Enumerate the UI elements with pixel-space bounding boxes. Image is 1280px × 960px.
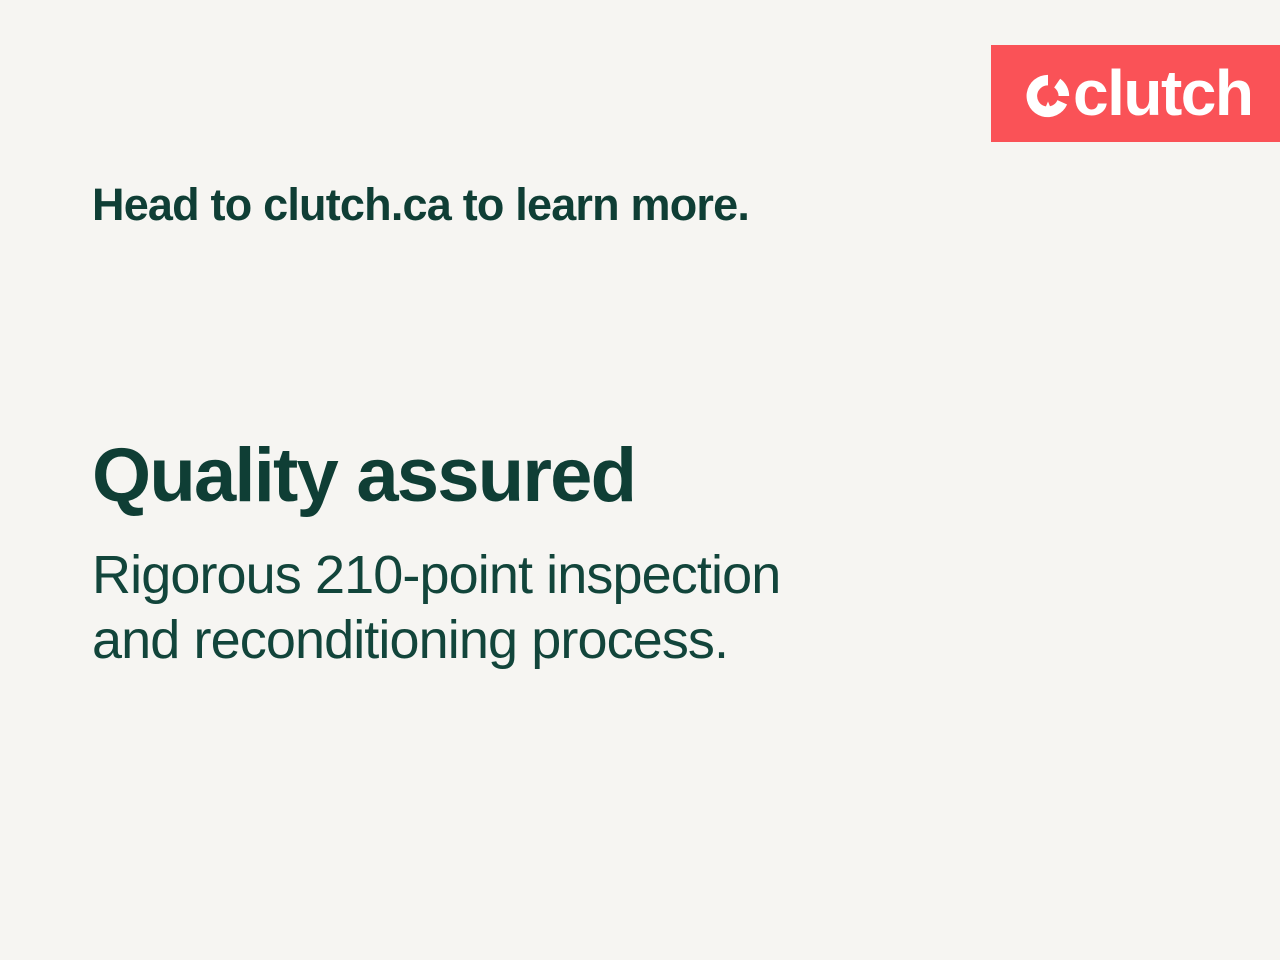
brand-bar: clutch: [991, 45, 1280, 142]
subhead-line-2: and reconditioning process.: [92, 608, 780, 673]
clutch-c-icon: [1025, 73, 1071, 119]
brand-lockup[interactable]: clutch: [1025, 63, 1252, 125]
slide-canvas: clutch Head to clutch.ca to learn more. …: [0, 0, 1280, 960]
page-title: Quality assured: [92, 436, 635, 516]
subhead-line-1: Rigorous 210-point inspection: [92, 543, 780, 608]
brand-wordmark: clutch: [1073, 61, 1252, 125]
subhead-text: Rigorous 210-point inspection and recond…: [92, 543, 780, 673]
kicker-text: Head to clutch.ca to learn more.: [92, 180, 749, 230]
